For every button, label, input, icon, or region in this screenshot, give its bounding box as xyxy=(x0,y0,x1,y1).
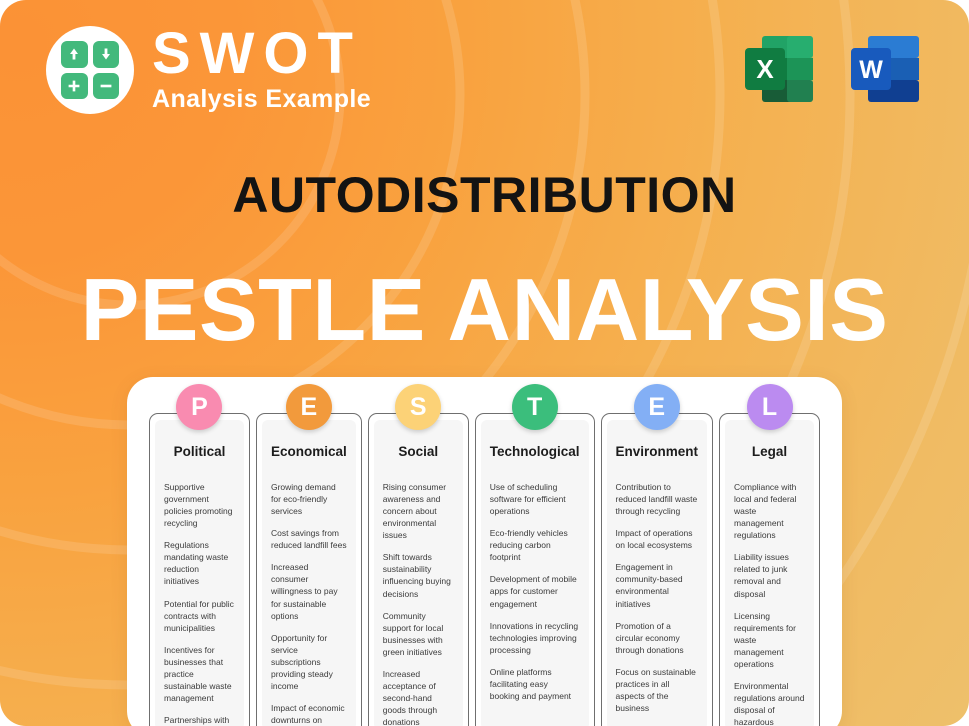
list-item: Potential for public contracts with muni… xyxy=(164,598,235,634)
pestle-column-technological[interactable]: TTechnologicalUse of scheduling software… xyxy=(475,413,595,726)
brand-subtitle: Analysis Example xyxy=(152,85,371,114)
list-item: Contribution to reduced landfill waste t… xyxy=(616,481,699,517)
pestle-column-environment[interactable]: EEnvironmentContribution to reduced land… xyxy=(601,413,714,726)
list-item: Environmental regulations around disposa… xyxy=(734,680,805,726)
column-badge: L xyxy=(747,384,793,430)
column-badge: E xyxy=(634,384,680,430)
pestle-column-social[interactable]: SSocialRising consumer awareness and con… xyxy=(368,413,469,726)
column-body: PoliticalSupportive government policies … xyxy=(155,420,244,726)
column-item-list: Growing demand for eco-friendly services… xyxy=(271,481,347,726)
list-item: Partnerships with local governments for … xyxy=(164,714,235,726)
list-item: Supportive government policies promoting… xyxy=(164,481,235,529)
column-body: LegalCompliance with local and federal w… xyxy=(725,420,814,726)
minus-icon xyxy=(93,73,120,100)
column-heading: Environment xyxy=(616,444,699,459)
column-body: EnvironmentContribution to reduced landf… xyxy=(607,420,708,726)
list-item: Cost savings from reduced landfill fees xyxy=(271,527,347,551)
column-heading: Technological xyxy=(490,444,580,459)
column-heading: Social xyxy=(383,444,454,459)
column-badge: T xyxy=(512,384,558,430)
pestle-poster: SWOT Analysis Example X xyxy=(0,0,969,726)
arrow-down-icon xyxy=(93,41,120,68)
list-item: Eco-friendly vehicles reducing carbon fo… xyxy=(490,527,580,563)
list-item: Innovations in recycling technologies im… xyxy=(490,620,580,656)
list-item: Development of mobile apps for customer … xyxy=(490,573,580,609)
plus-icon xyxy=(61,73,88,100)
pestle-column-economical[interactable]: EEconomicalGrowing demand for eco-friend… xyxy=(256,413,362,726)
column-item-list: Contribution to reduced landfill waste t… xyxy=(616,481,699,714)
list-item: Opportunity for service subscriptions pr… xyxy=(271,632,347,692)
list-item: Engagement in community-based environmen… xyxy=(616,561,699,609)
list-item: Growing demand for eco-friendly services xyxy=(271,481,347,517)
page-title: PESTLE ANALYSIS xyxy=(0,266,969,354)
column-body: EconomicalGrowing demand for eco-friendl… xyxy=(262,420,356,726)
column-badge: P xyxy=(176,384,222,430)
excel-icon: X xyxy=(737,28,821,112)
list-item: Focus on sustainable practices in all as… xyxy=(616,666,699,714)
list-item: Shift towards sustainability influencing… xyxy=(383,551,454,599)
pestle-matrix-card: PPoliticalSupportive government policies… xyxy=(127,377,842,726)
swot-logo-icon xyxy=(46,26,134,114)
svg-text:W: W xyxy=(859,56,883,84)
pestle-column-political[interactable]: PPoliticalSupportive government policies… xyxy=(149,413,250,726)
svg-text:X: X xyxy=(756,54,774,84)
list-item: Increased consumer willingness to pay fo… xyxy=(271,561,347,621)
word-icon: W xyxy=(843,28,927,112)
company-title: AUTODISTRIBUTION xyxy=(0,166,969,224)
column-item-list: Use of scheduling software for efficient… xyxy=(490,481,580,702)
list-item: Compliance with local and federal waste … xyxy=(734,481,805,541)
column-body: SocialRising consumer awareness and conc… xyxy=(374,420,463,726)
list-item: Liability issues related to junk removal… xyxy=(734,551,805,599)
column-heading: Political xyxy=(164,444,235,459)
office-icons: X W xyxy=(737,28,927,112)
list-item: Promotion of a circular economy through … xyxy=(616,620,699,656)
list-item: Licensing requirements for waste managem… xyxy=(734,610,805,670)
list-item: Regulations mandating waste reduction in… xyxy=(164,539,235,587)
list-item: Impact of operations on local ecosystems xyxy=(616,527,699,551)
pestle-column-legal[interactable]: LLegalCompliance with local and federal … xyxy=(719,413,820,726)
column-body: TechnologicalUse of scheduling software … xyxy=(481,420,589,726)
column-heading: Legal xyxy=(734,444,805,459)
list-item: Use of scheduling software for efficient… xyxy=(490,481,580,517)
column-badge: S xyxy=(395,384,441,430)
list-item: Community support for local businesses w… xyxy=(383,610,454,658)
arrow-up-icon xyxy=(61,41,88,68)
list-item: Incentives for businesses that practice … xyxy=(164,644,235,704)
column-item-list: Rising consumer awareness and concern ab… xyxy=(383,481,454,726)
column-item-list: Compliance with local and federal waste … xyxy=(734,481,805,726)
pestle-columns: PPoliticalSupportive government policies… xyxy=(149,413,820,726)
list-item: Rising consumer awareness and concern ab… xyxy=(383,481,454,541)
brand-title: SWOT xyxy=(152,26,371,83)
poster-header: SWOT Analysis Example X xyxy=(0,0,969,140)
column-item-list: Supportive government policies promoting… xyxy=(164,481,235,726)
list-item: Impact of economic downturns on disposab… xyxy=(271,702,347,726)
swot-brand: SWOT Analysis Example xyxy=(46,26,371,114)
column-badge: E xyxy=(286,384,332,430)
list-item: Increased acceptance of second-hand good… xyxy=(383,668,454,726)
column-heading: Economical xyxy=(271,444,347,459)
list-item: Online platforms facilitating easy booki… xyxy=(490,666,580,702)
